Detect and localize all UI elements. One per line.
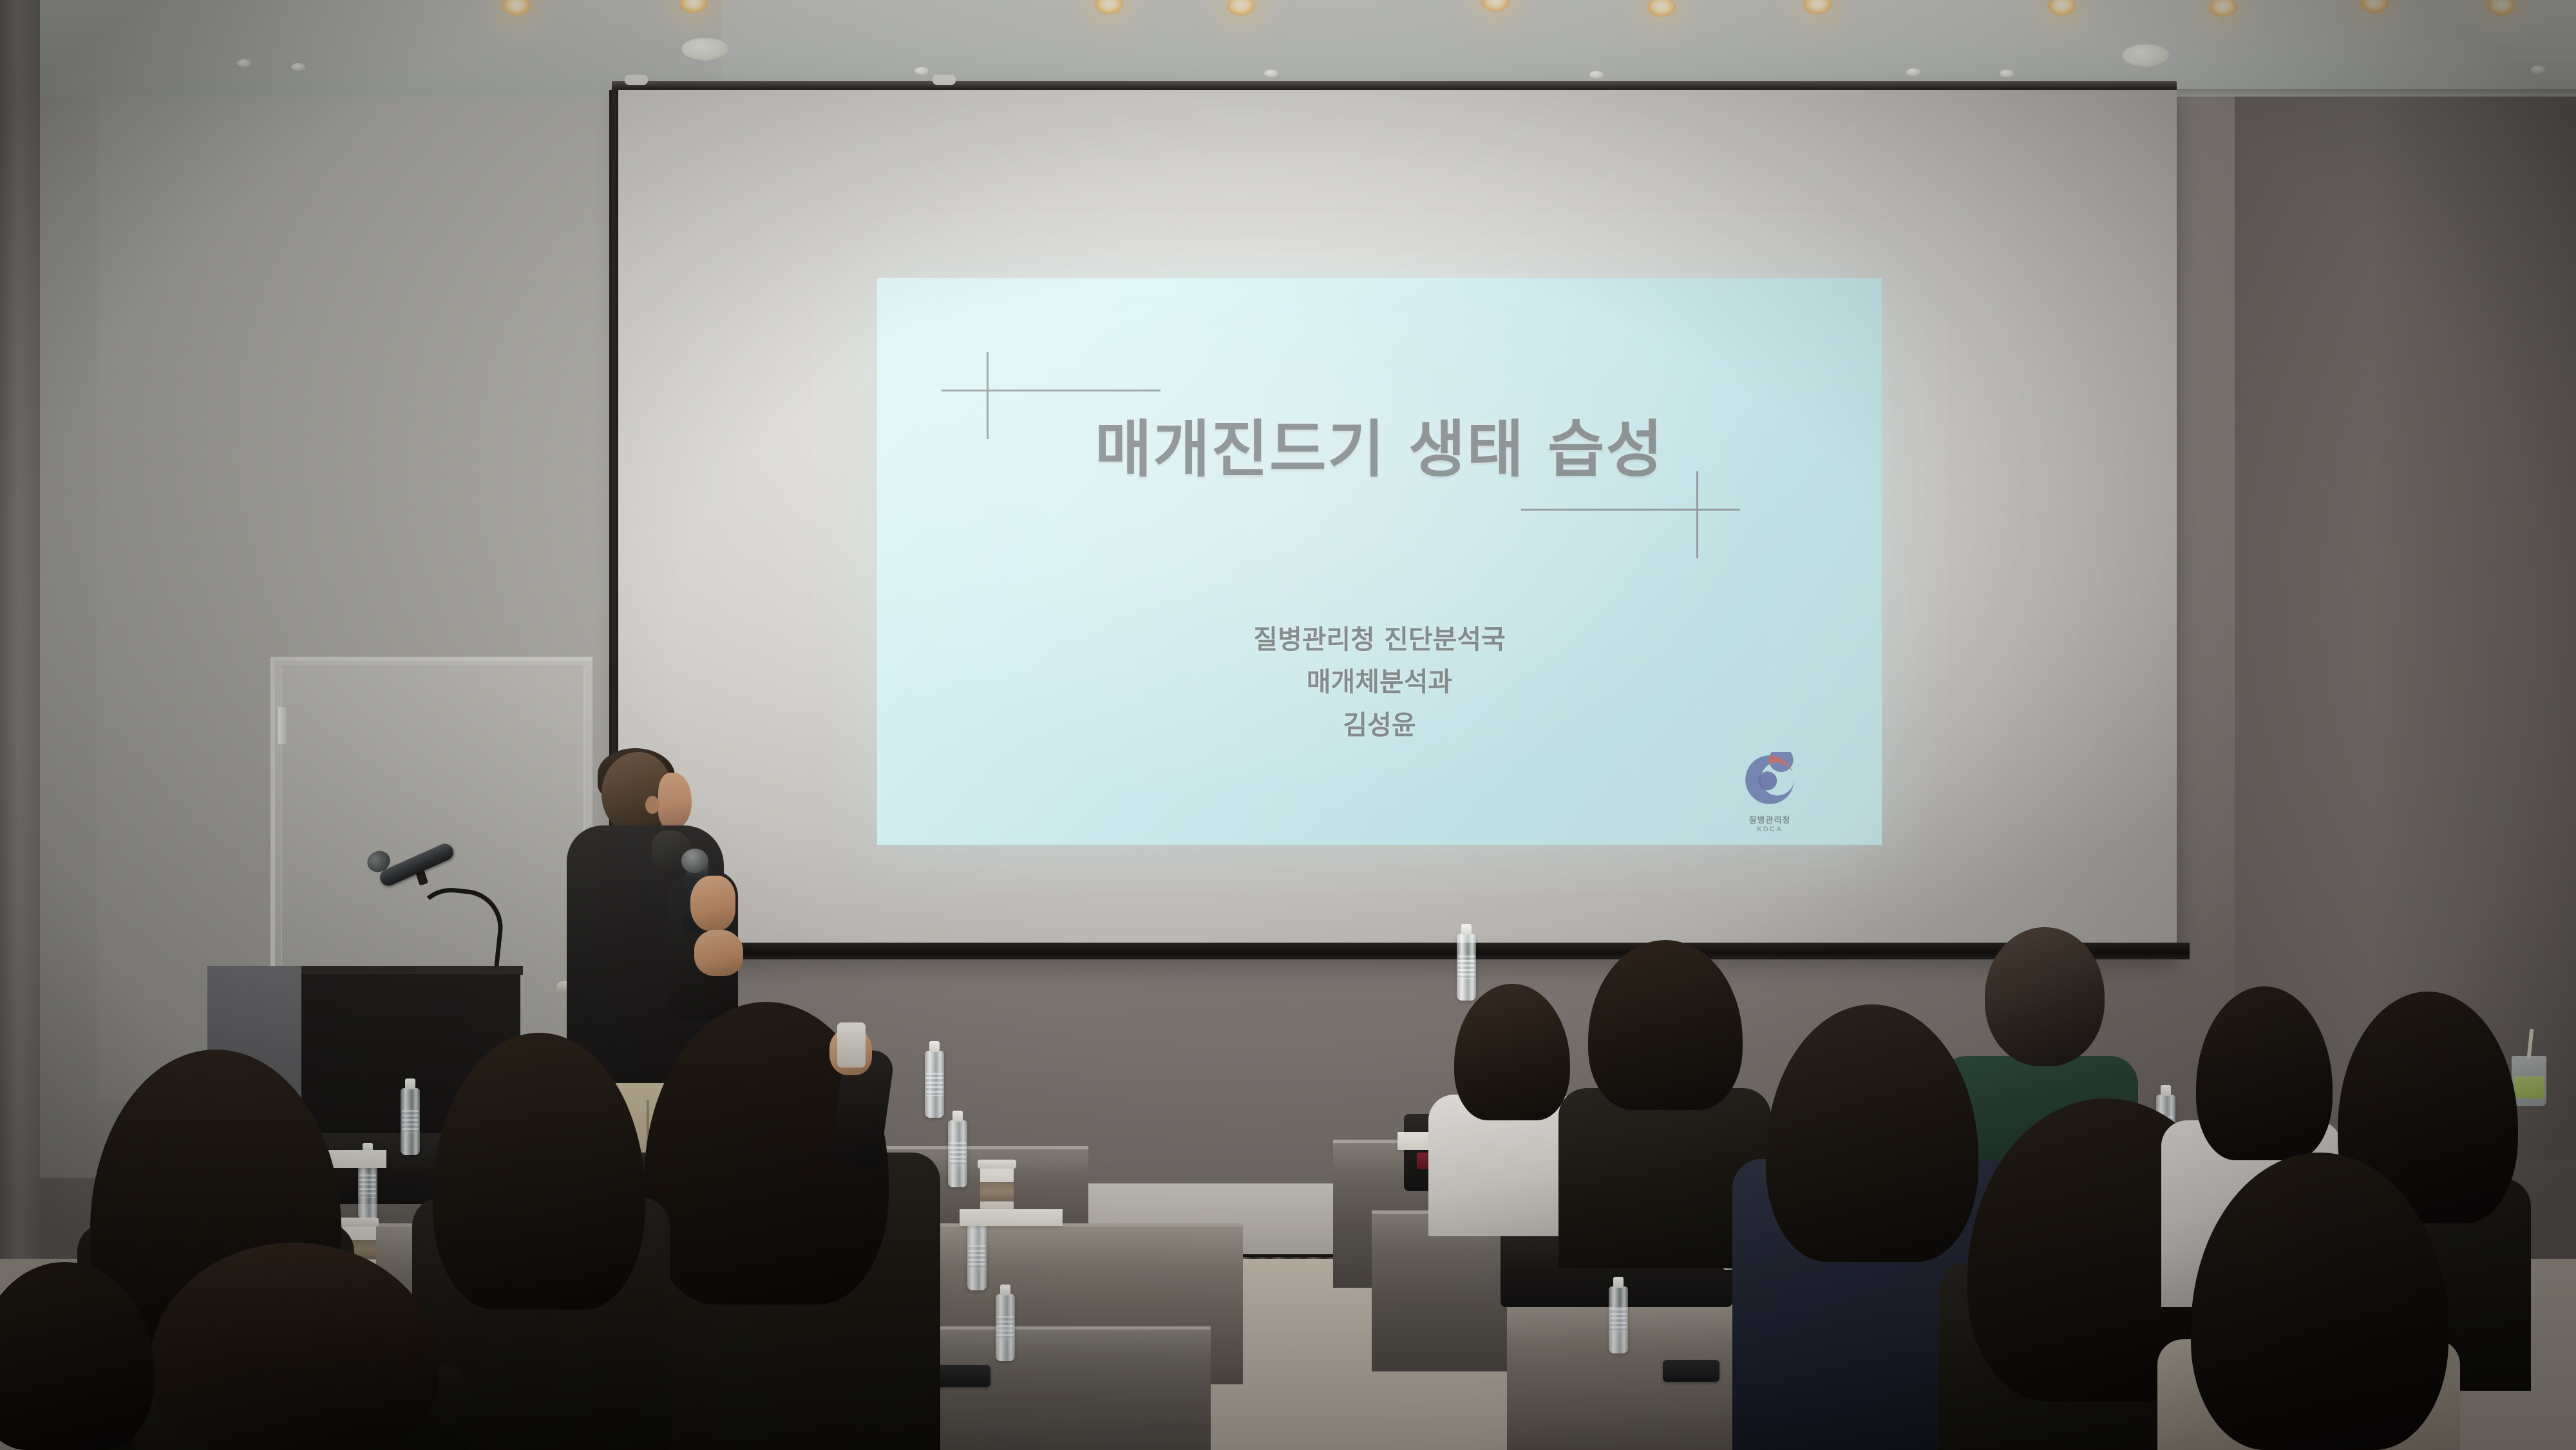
smoke-detector-icon: [681, 37, 729, 61]
sprinkler-head-icon: [291, 63, 305, 71]
taegeuk-swirl-icon: [1742, 752, 1797, 807]
slide-subtitle-line-3: 김성윤: [877, 704, 1882, 746]
kdca-logo-ko: 질병관리청: [1728, 813, 1811, 825]
screen-bracket: [933, 75, 956, 85]
slide-subtitle-block: 질병관리청 진단분석국 매개체분석과 김성윤: [877, 618, 1882, 746]
presenter-ear: [645, 796, 659, 814]
iced-drink-label: [2514, 1077, 2544, 1098]
lecture-room-photo: 매개진드기 생태 습성 질병관리청 진단분석국 매개체분석과 김성윤 질병관리청…: [0, 0, 2576, 1450]
presenter-second-hand: [694, 930, 743, 976]
slide-subtitle-line-2: 매개체분석과: [877, 661, 1882, 703]
smartphone-icon[interactable]: [934, 1365, 990, 1387]
water-bottle-icon: [1609, 1286, 1628, 1353]
presenter-face: [658, 773, 692, 828]
water-bottle-icon: [996, 1294, 1015, 1361]
handheld-microphone-head-icon: [681, 849, 708, 873]
water-bottle-icon: [1457, 934, 1476, 1001]
sprinkler-head-icon: [2531, 66, 2545, 73]
audience-head: [1985, 927, 2105, 1066]
coffee-cup-sleeve: [980, 1182, 1014, 1201]
handout-paper-icon: [960, 1209, 1063, 1226]
kdca-logo: 질병관리청 KDCA: [1728, 752, 1811, 833]
crosshair-bottom-right-horizontal: [1521, 509, 1740, 511]
smartphone-icon[interactable]: [837, 1022, 866, 1068]
left-wall-pier: [0, 0, 40, 1275]
water-bottle-icon: [948, 1120, 967, 1187]
kdca-logo-en: KDCA: [1728, 825, 1811, 833]
water-bottle-icon: [401, 1088, 420, 1155]
sprinkler-head-icon: [914, 67, 929, 75]
door-hinge-icon: [278, 707, 287, 744]
sprinkler-head-icon: [1906, 68, 1920, 76]
coffee-cup-icon: [980, 1165, 1014, 1214]
presenter-hand-holding-mic: [690, 876, 735, 931]
sprinkler-head-icon: [237, 59, 251, 67]
sprinkler-head-icon: [2000, 70, 2014, 77]
smartphone-icon[interactable]: [1663, 1360, 1719, 1382]
water-bottle-icon: [925, 1051, 944, 1118]
smoke-detector-icon: [2122, 44, 2170, 67]
screen-bottom-weight-bar: [618, 943, 2190, 959]
slide-title: 매개진드기 생태 습성: [877, 399, 1882, 489]
sprinkler-head-icon: [1589, 71, 1604, 79]
iced-drink-cup-icon: [2512, 1056, 2546, 1106]
sprinkler-head-icon: [1264, 70, 1278, 77]
crosshair-top-left-horizontal: [942, 390, 1160, 391]
projected-slide: 매개진드기 생태 습성 질병관리청 진단분석국 매개체분석과 김성윤 질병관리청…: [877, 278, 1882, 845]
slide-subtitle-line-1: 질병관리청 진단분석국: [877, 618, 1882, 661]
screen-bracket: [625, 75, 648, 85]
water-bottle-icon: [967, 1223, 987, 1290]
